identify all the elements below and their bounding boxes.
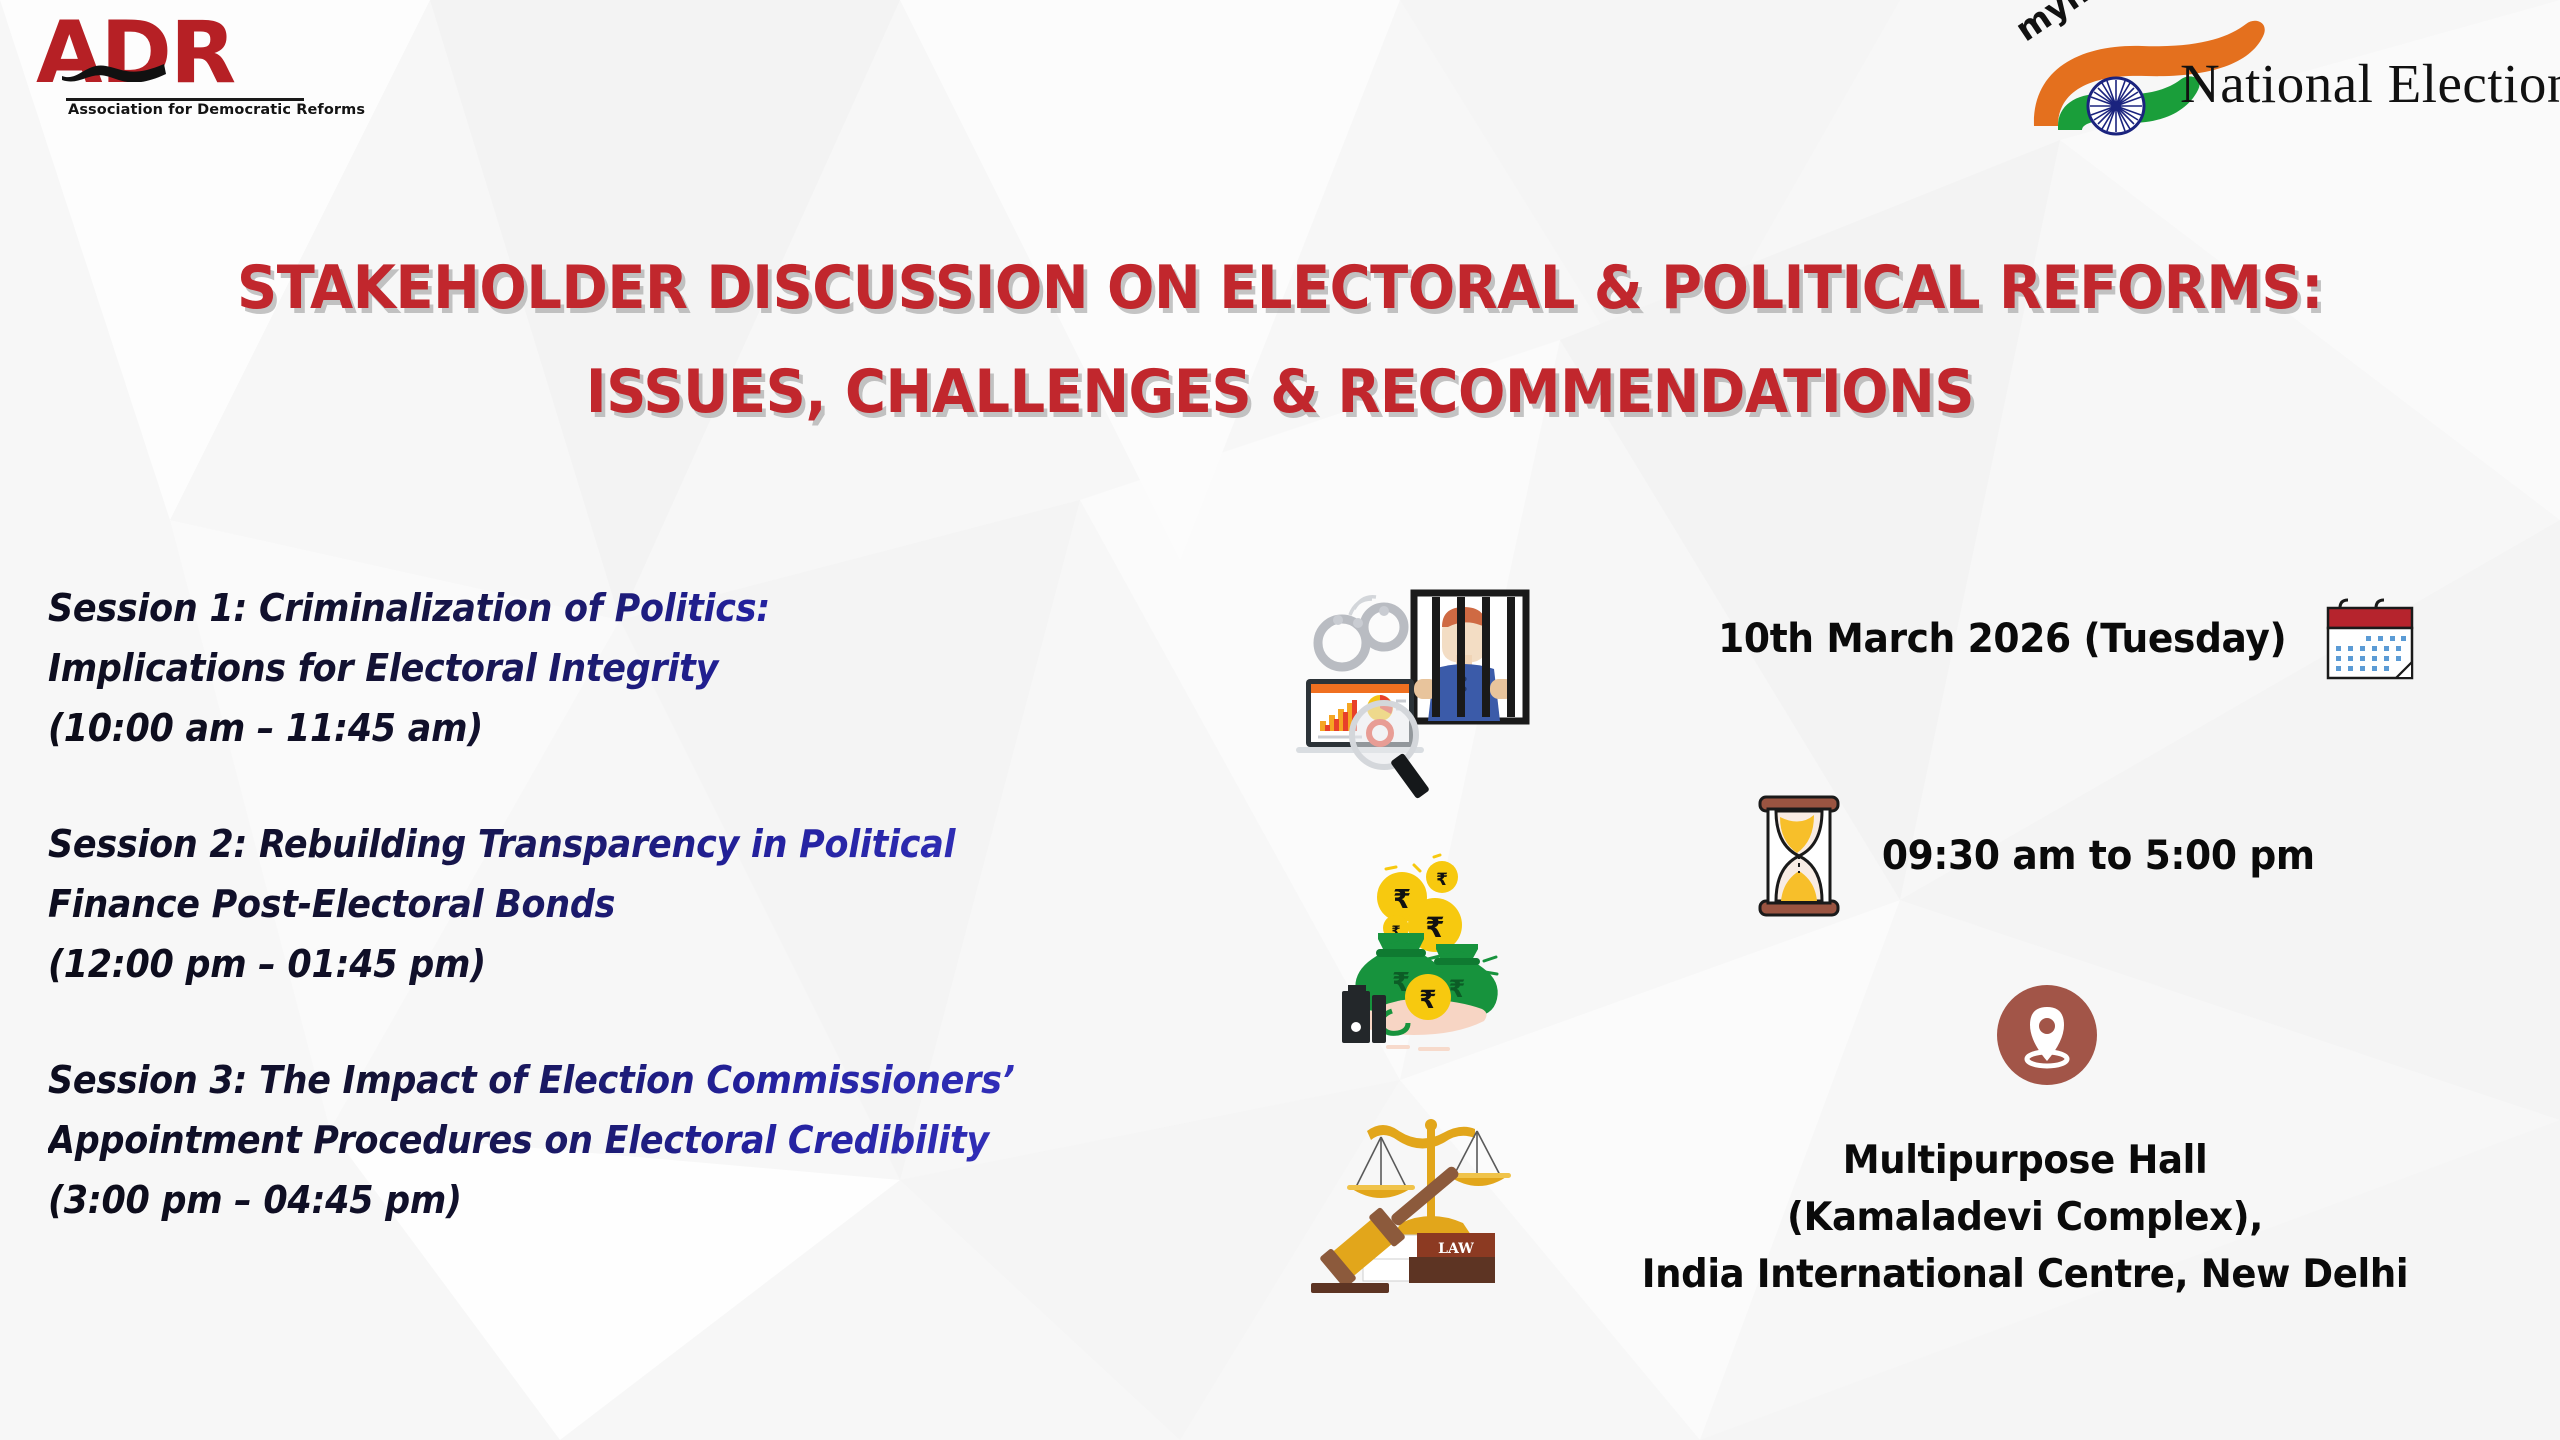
svg-text:₹: ₹ bbox=[1449, 975, 1466, 1003]
justice-scene-icon: LAW bbox=[1305, 1115, 1535, 1305]
session-3-line-2: Appointment Procedures on Electoral Cred… bbox=[48, 1110, 1189, 1170]
calendar-icon bbox=[2322, 596, 2418, 682]
venue-line-2: (Kamaladevi Complex), bbox=[1545, 1189, 2505, 1246]
session-3-line-1: Session 3: The Impact of Election Commis… bbox=[48, 1050, 1189, 1110]
session-item-1: Session 1: Criminalization of Politics: … bbox=[48, 578, 1288, 758]
money-bags-rupee-coins-illustration: ₹ ₹ ₹ ₹ ₹ ₹ bbox=[1330, 845, 1540, 1060]
prisoner-scene-icon bbox=[1292, 575, 1542, 805]
session-item-3: Session 3: The Impact of Election Commis… bbox=[48, 1050, 1288, 1230]
adr-logo: ADR Association for Democratic Reforms bbox=[34, 14, 324, 118]
svg-text:LAW: LAW bbox=[1438, 1241, 1474, 1257]
session-1-line-2: Implications for Electoral Integrity bbox=[48, 638, 1189, 698]
title-line-1: STAKEHOLDER DISCUSSION ON ELECTORAL & PO… bbox=[90, 236, 2471, 340]
scales-gavel-law-books-illustration: LAW bbox=[1305, 1115, 1535, 1305]
session-1-time: (10:00 am – 11:45 am) bbox=[48, 698, 1189, 758]
map-pin-icon bbox=[1997, 985, 2097, 1085]
svg-text:₹: ₹ bbox=[1393, 885, 1411, 915]
session-2-time: (12:00 pm – 01:45 pm) bbox=[48, 934, 1189, 994]
adr-divider bbox=[66, 98, 304, 101]
session-2-line-1: Session 2: Rebuilding Transparency in Po… bbox=[48, 814, 1189, 874]
hourglass-icon bbox=[1756, 795, 1842, 917]
event-date: 10th March 2026 (Tuesday) bbox=[1718, 616, 2286, 662]
svg-text:₹: ₹ bbox=[1419, 985, 1436, 1014]
session-3-time: (3:00 pm – 04:45 pm) bbox=[48, 1170, 1189, 1230]
event-date-row: 10th March 2026 (Tuesday) bbox=[1700, 596, 2540, 682]
svg-text:₹: ₹ bbox=[1425, 911, 1444, 944]
session-list: Session 1: Criminalization of Politics: … bbox=[48, 578, 1288, 1286]
money-scene-icon: ₹ ₹ ₹ ₹ ₹ ₹ bbox=[1330, 845, 1540, 1060]
session-1-line-1: Session 1: Criminalization of Politics: bbox=[48, 578, 1189, 638]
session-2-line-2: Finance Post-Electoral Bonds bbox=[48, 874, 1189, 934]
event-poster: ADR Association for Democratic Reforms bbox=[0, 0, 2560, 1440]
event-venue: Multipurpose Hall (Kamaladevi Complex), … bbox=[1520, 1132, 2530, 1303]
event-time: 09:30 am to 5:00 pm bbox=[1882, 833, 2315, 879]
adr-acronym: ADR bbox=[36, 10, 234, 96]
event-time-row: 09:30 am to 5:00 pm bbox=[1756, 795, 2329, 917]
page-title: STAKEHOLDER DISCUSSION ON ELECTORAL & PO… bbox=[0, 236, 2560, 444]
adr-subtitle: Association for Democratic Reforms bbox=[68, 102, 365, 118]
national-election-watch-name: National Election Watch bbox=[2180, 52, 2560, 115]
venue-line-3: India International Centre, New Delhi bbox=[1545, 1246, 2505, 1303]
venue-line-1: Multipurpose Hall bbox=[1545, 1132, 2505, 1189]
svg-text:₹: ₹ bbox=[1436, 870, 1448, 890]
national-election-watch-logo: myneta.info National Election Watch bbox=[2012, 8, 2552, 138]
session-item-2: Session 2: Rebuilding Transparency in Po… bbox=[48, 814, 1288, 994]
adr-swoosh-icon bbox=[60, 60, 170, 82]
title-line-2: ISSUES, CHALLENGES & RECOMMENDATIONS bbox=[90, 340, 2471, 444]
handcuffs-laptop-prisoner-illustration bbox=[1292, 575, 1542, 805]
